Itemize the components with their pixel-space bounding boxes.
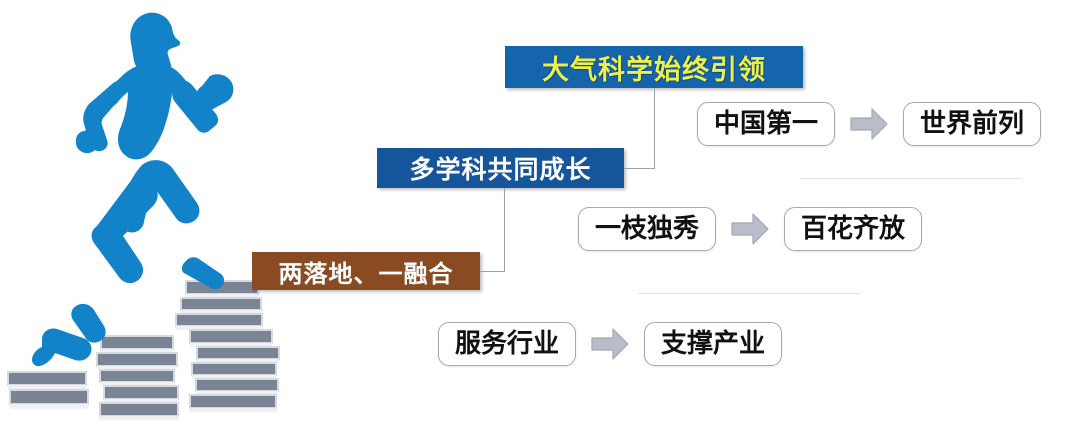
right-arrow-icon <box>849 107 889 141</box>
pill-row2-from[interactable]: 一枝独秀 <box>578 207 716 251</box>
pill-row2-to[interactable]: 百花齐放 <box>784 207 922 251</box>
banner-low-strategy: 两落地、一融合 <box>252 252 480 290</box>
connector-mid-horizontal <box>480 271 505 272</box>
pill-row3-to[interactable]: 支撑产业 <box>644 322 782 366</box>
connector-mid-vertical <box>504 188 505 271</box>
pill-row1-to[interactable]: 世界前列 <box>903 102 1041 146</box>
progression-row-1: 中国第一 世界前列 <box>697 102 1041 146</box>
progression-row-3: 服务行业 支撑产业 <box>438 322 782 366</box>
pill-row1-from[interactable]: 中国第一 <box>697 102 835 146</box>
connector-top-vertical <box>654 88 655 168</box>
banner-top-strategy: 大气科学始终引领 <box>505 46 803 88</box>
pill-row3-from[interactable]: 服务行业 <box>438 322 576 366</box>
right-arrow-icon <box>730 212 770 246</box>
connector-top-horizontal <box>624 168 655 169</box>
divider-row-1 <box>800 178 1022 179</box>
banner-mid-strategy: 多学科共同成长 <box>377 148 624 188</box>
running-man-climbing-books-illustration <box>0 0 300 428</box>
divider-row-2 <box>638 293 860 294</box>
book-stack-1 <box>8 372 88 409</box>
book-stack-2 <box>97 336 178 420</box>
slide-canvas: 大气科学始终引领 多学科共同成长 两落地、一融合 中国第一 世界前列 一枝独秀 … <box>0 0 1080 428</box>
progression-row-2: 一枝独秀 百花齐放 <box>578 207 922 251</box>
right-arrow-icon <box>590 327 630 361</box>
book-stack-3 <box>176 281 279 412</box>
